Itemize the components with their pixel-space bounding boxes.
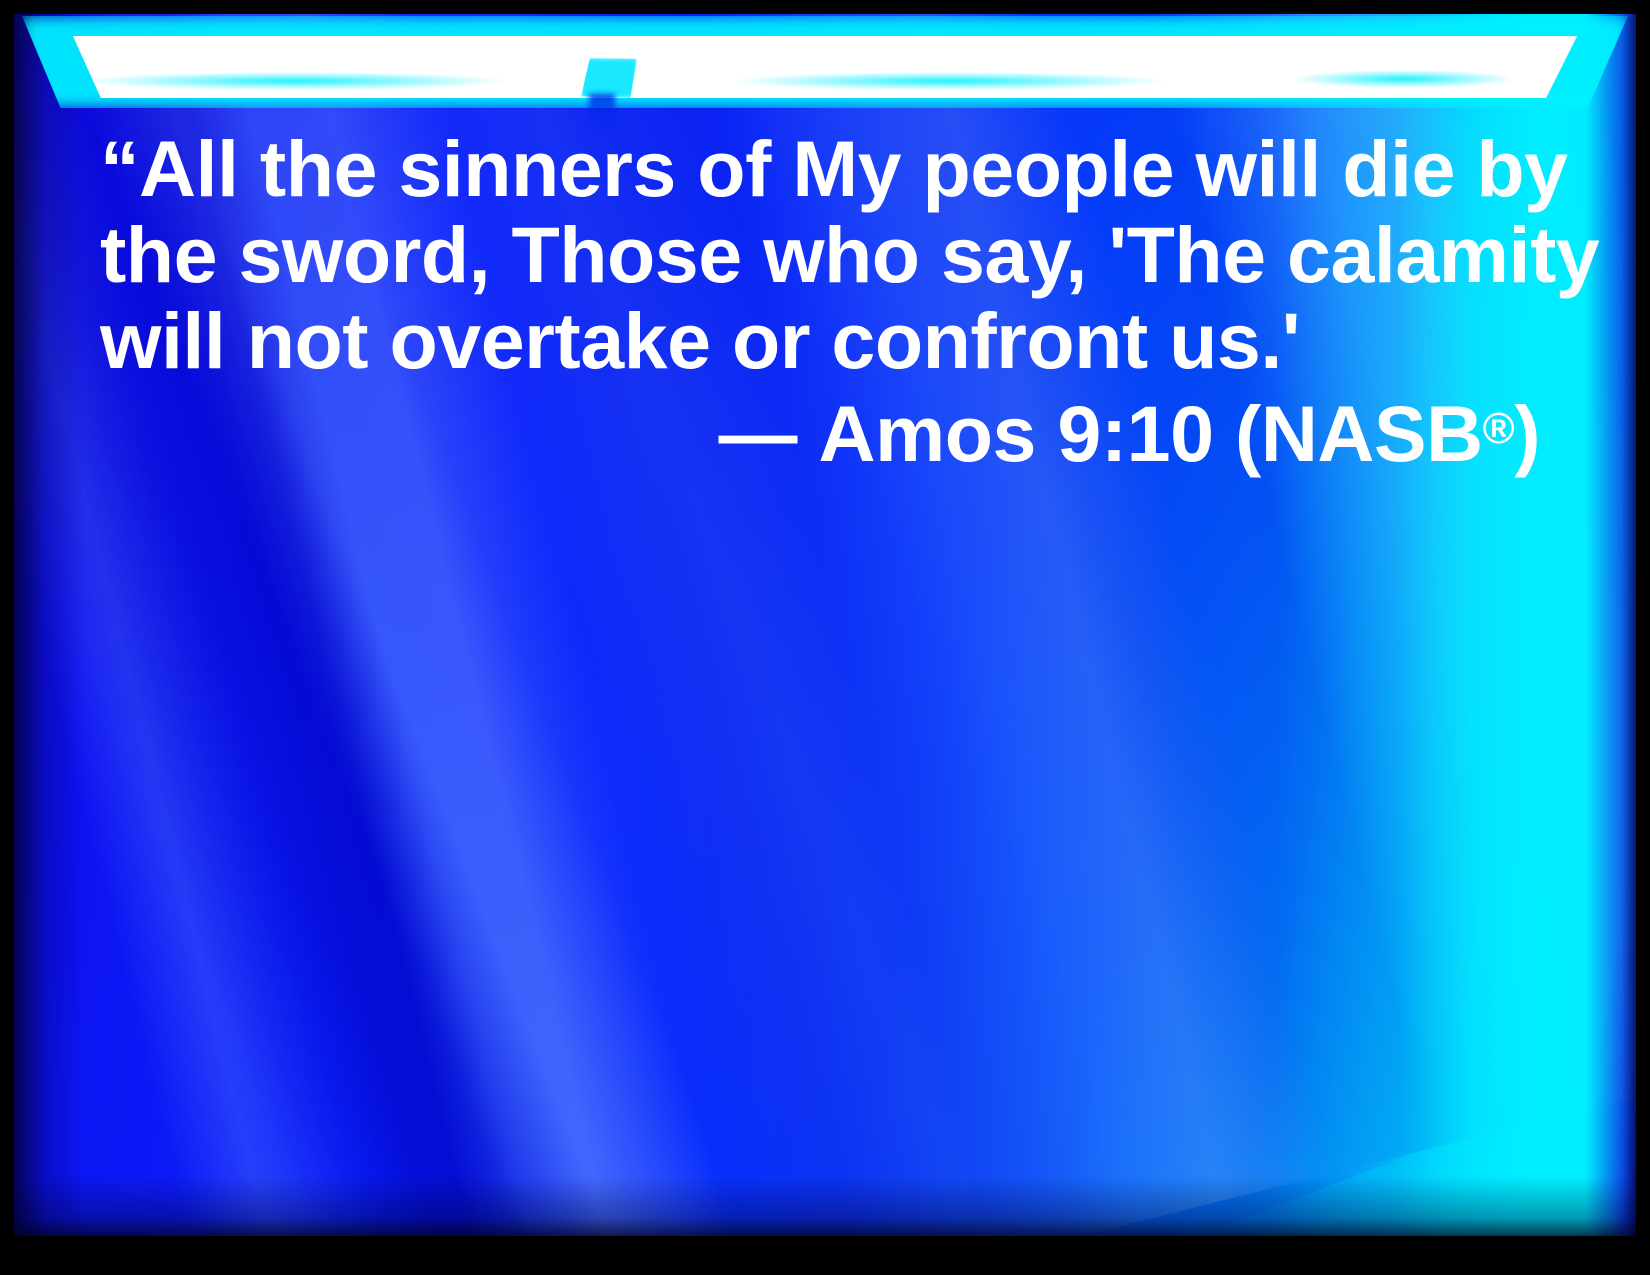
top-decorative-band [14, 14, 1636, 120]
slide-canvas: “All the sinners of My people will die b… [14, 14, 1636, 1236]
attribution-version-close: ) [1514, 389, 1540, 478]
attribution-space-2 [1214, 389, 1235, 478]
verse-line-1: “All the sinners of My people will die b… [100, 126, 1500, 212]
registered-trademark-icon: ® [1483, 405, 1515, 453]
attribution-version-open: (NASB [1235, 389, 1483, 478]
verse-line-3: will not overtake or confront us.' [100, 298, 1500, 384]
attribution-reference: Amos 9:10 [819, 389, 1214, 478]
scripture-slide: “All the sinners of My people will die b… [0, 0, 1650, 1275]
attribution-dash: — [719, 389, 798, 478]
left-edge-shadow [14, 14, 84, 1236]
attribution-space [797, 389, 818, 478]
cyan-notch-icon [581, 58, 637, 98]
verse-attribution: — Amos 9:10 (NASB®) [100, 386, 1540, 477]
verse-text-block: “All the sinners of My people will die b… [100, 126, 1500, 384]
band-cyan-streak-center [734, 72, 1164, 90]
band-cyan-streak-left [84, 72, 504, 90]
bottom-edge-shadow [14, 1176, 1636, 1236]
verse-line-2: the sword, Those who say, 'The calamity [100, 212, 1500, 298]
band-cyan-streak-right [1294, 70, 1514, 88]
